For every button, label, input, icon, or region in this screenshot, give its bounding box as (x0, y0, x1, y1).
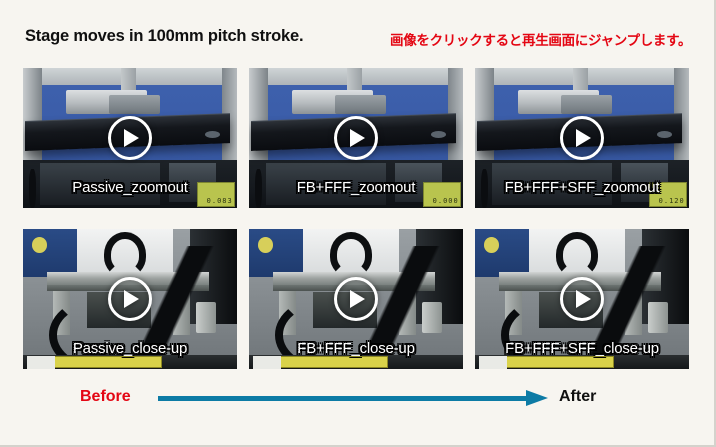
thumbnail-label: FB+FFF+SFF_close-up (475, 340, 689, 357)
play-icon[interactable] (108, 116, 152, 160)
video-thumbnail-fbfff-zoomout[interactable]: 0.000 FB+FFF_zoomout (249, 68, 463, 208)
page-root: Stage moves in 100mm pitch stroke. 画像をクリ… (0, 0, 716, 447)
video-thumbnail-grid: 0.083 Passive_zoomout (23, 68, 691, 390)
page-title: Stage moves in 100mm pitch stroke. (25, 27, 303, 46)
video-thumbnail-passive-close-up[interactable]: Passive_close-up (23, 229, 237, 369)
after-label: After (559, 388, 596, 406)
video-thumbnail-fbfffsff-zoomout[interactable]: 0.120 FB+FFF+SFF_zoomout (475, 68, 689, 208)
play-icon[interactable] (560, 277, 604, 321)
play-icon[interactable] (334, 277, 378, 321)
video-thumbnail-passive-zoomout[interactable]: 0.083 Passive_zoomout (23, 68, 237, 208)
thumbnail-label: Passive_close-up (23, 340, 237, 357)
video-thumbnail-fbfff-close-up[interactable]: FB+FFF_close-up (249, 229, 463, 369)
thumbnail-label: Passive_zoomout (23, 179, 237, 196)
page-header: Stage moves in 100mm pitch stroke. 画像をクリ… (0, 27, 716, 51)
machine-readout-value: 0.000 (433, 197, 459, 205)
video-thumbnail-fbfffsff-close-up[interactable]: FB+FFF+SFF_close-up (475, 229, 689, 369)
play-icon[interactable] (334, 116, 378, 160)
play-icon[interactable] (108, 277, 152, 321)
right-arrow-head-icon (526, 390, 548, 406)
machine-readout-value: 0.120 (659, 197, 685, 205)
click-instruction-note: 画像をクリックすると再生画面にジャンプします。 (390, 29, 691, 49)
thumbnail-label: FB+FFF+SFF_zoomout (475, 179, 689, 196)
right-arrow-icon (158, 396, 528, 401)
thumbnail-label: FB+FFF_close-up (249, 340, 463, 357)
thumbnail-label: FB+FFF_zoomout (249, 179, 463, 196)
machine-readout-value: 0.083 (207, 197, 233, 205)
play-icon[interactable] (560, 116, 604, 160)
thumbnail-row-closeup: Passive_close-up FB+ (23, 229, 691, 369)
before-label: Before (80, 388, 131, 406)
progression-footer: Before After (0, 388, 716, 422)
thumbnail-row-zoomout: 0.083 Passive_zoomout (23, 68, 691, 208)
